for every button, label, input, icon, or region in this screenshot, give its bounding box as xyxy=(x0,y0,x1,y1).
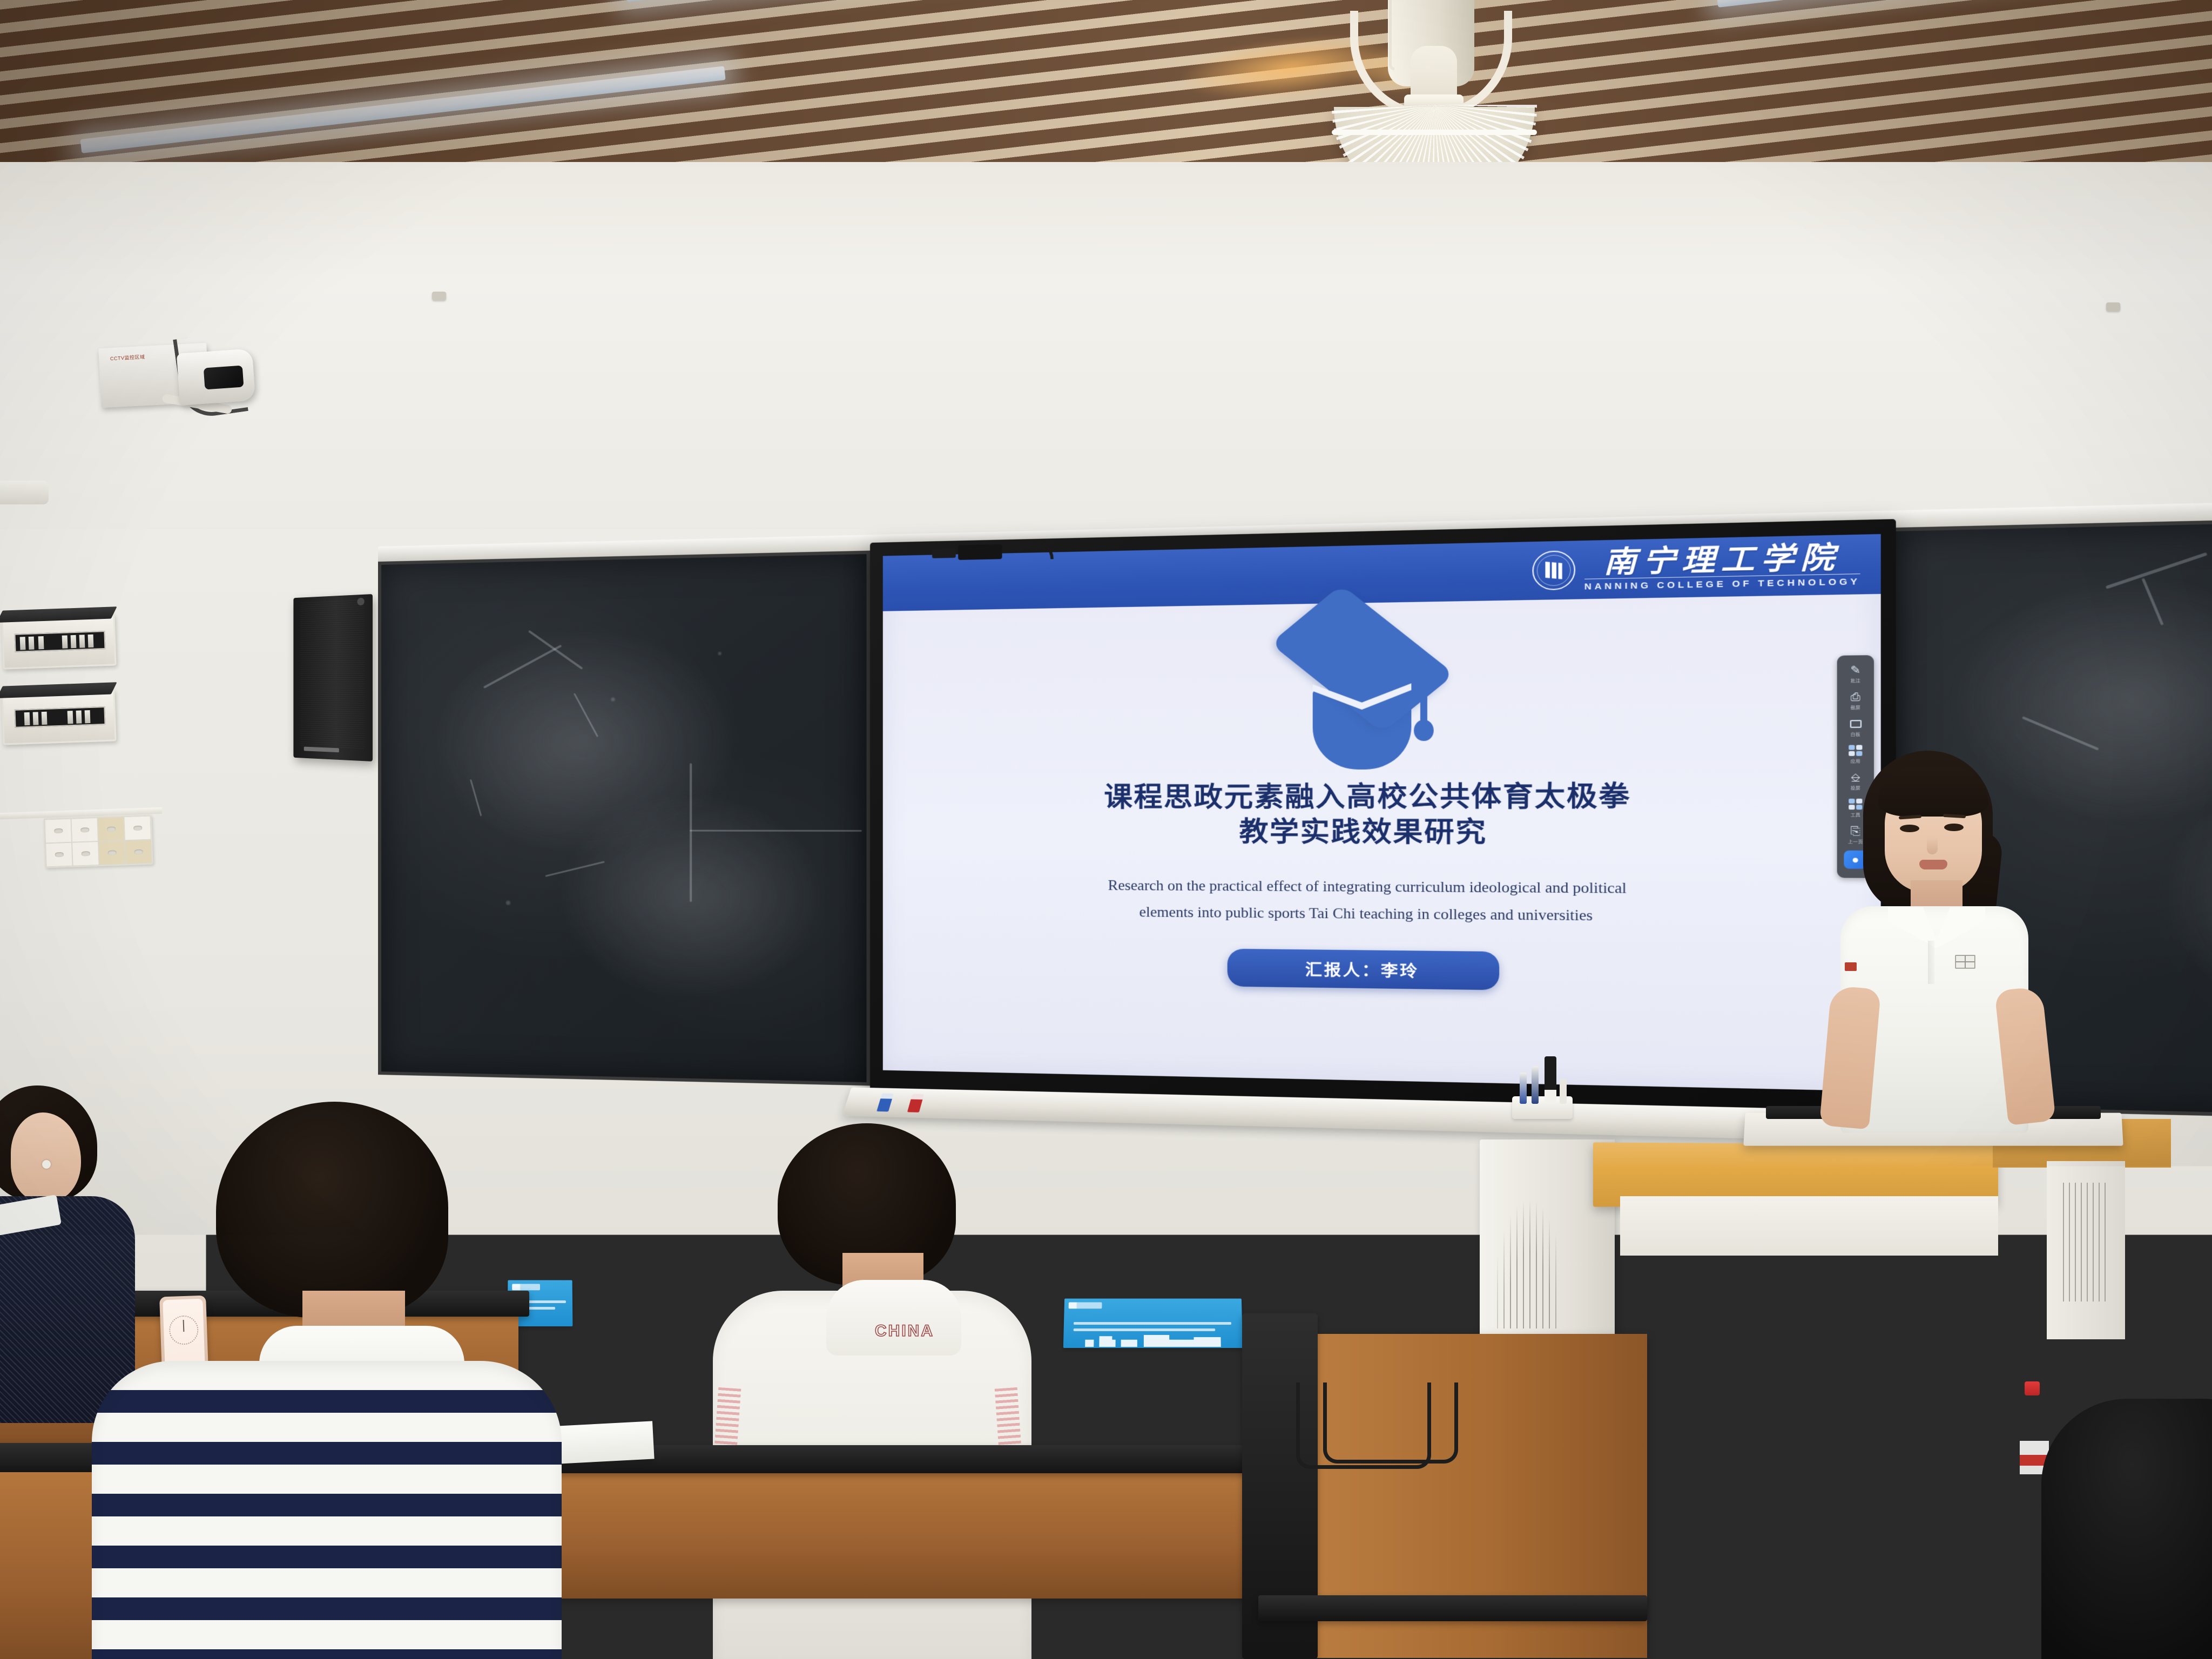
wall-vent xyxy=(0,481,49,504)
pen[interactable] xyxy=(1520,1073,1527,1104)
speaker-grille xyxy=(300,600,365,750)
power-socket[interactable] xyxy=(45,819,72,844)
fan-power-cable xyxy=(1389,0,1394,70)
jacket-brand-text: CHINA xyxy=(875,1322,934,1340)
audience-man-striped-hair xyxy=(216,1102,448,1318)
tent-card-center xyxy=(1063,1299,1243,1348)
presenter-name-pill: 汇报人：李玲 xyxy=(1228,949,1499,990)
slide-subtitle-line2: elements into public sports Tai Chi teac… xyxy=(936,898,1819,932)
speaker-badge xyxy=(304,747,339,753)
camera-lens-icon xyxy=(204,366,244,390)
desk-row-frontmost xyxy=(551,1593,1123,1659)
sprinkler-head xyxy=(2106,302,2120,311)
jacket-collar xyxy=(826,1280,961,1355)
toolbar-item-screenshot[interactable]: ⎙ 截屏 xyxy=(1837,688,1874,712)
pen-annotate-icon: ✎ xyxy=(1846,663,1864,677)
red-marker[interactable] xyxy=(907,1094,924,1112)
university-logo: 南宁理工学院 NANNING COLLEGE OF TECHNOLOGY xyxy=(1532,542,1860,592)
toolbar-label: 白板 xyxy=(1851,732,1860,738)
university-name-cn: 南宁理工学院 xyxy=(1603,542,1840,577)
podium-name-plate: 廣州體育學院 GUANGZHOU SPORT UNIVERSITY xyxy=(1653,1334,2025,1658)
clip-on-webcam xyxy=(958,544,1002,560)
power-socket[interactable] xyxy=(45,842,73,867)
desk-rail-lower-right xyxy=(1258,1595,1647,1621)
breaker-row xyxy=(14,631,105,652)
university-seal-icon xyxy=(1532,550,1575,590)
sprinkler-head xyxy=(432,292,446,300)
audience-person-right-black xyxy=(2041,1399,2212,1659)
pen[interactable] xyxy=(1532,1066,1539,1104)
slide-title-line2: 教学实践效果研究 xyxy=(883,814,1881,851)
sleeve-tag xyxy=(1845,962,1857,971)
blue-marker[interactable] xyxy=(876,1093,894,1111)
wall-mounted-speaker xyxy=(293,594,373,761)
presenter-at-podium xyxy=(1793,751,2074,1129)
upper-wall xyxy=(0,162,2212,551)
seal-book-mark xyxy=(1545,561,1562,579)
marker-pen-holder[interactable] xyxy=(1512,1096,1573,1119)
desk-rail-frontmost xyxy=(551,1561,1123,1595)
screenshot-icon: ⎙ xyxy=(1846,690,1864,704)
presenter-placket xyxy=(1928,941,1934,984)
emblem-athlete-figure xyxy=(1784,1271,1808,1307)
earring xyxy=(42,1160,51,1169)
smart-display[interactable]: 南宁理工学院 NANNING COLLEGE OF TECHNOLOGY 课程思… xyxy=(870,519,1896,1118)
fan-guard-ring xyxy=(1332,130,1537,135)
power-socket[interactable] xyxy=(98,840,126,865)
power-socket[interactable] xyxy=(71,818,98,842)
lectern-body xyxy=(1620,1196,1998,1256)
presenter-fringe xyxy=(1878,767,1988,817)
slide-subtitle: Research on the practical effect of inte… xyxy=(883,872,1881,933)
cabinet-vents xyxy=(2063,1183,2109,1301)
power-socket[interactable] xyxy=(125,840,152,865)
power-socket[interactable] xyxy=(72,841,99,866)
display-screen[interactable]: 南宁理工学院 NANNING COLLEGE OF TECHNOLOGY 课程思… xyxy=(883,534,1881,1091)
wood-slat-ceiling xyxy=(0,0,2212,178)
toolbar-item-whiteboard[interactable]: 白板 xyxy=(1837,715,1874,739)
chalkboard-left xyxy=(378,551,870,1086)
power-socket[interactable] xyxy=(124,816,151,841)
breaker-row xyxy=(14,706,105,728)
ceiling-shading xyxy=(0,0,2212,178)
presenter-mouth xyxy=(1919,860,1947,869)
emblem-ribbon xyxy=(1763,1304,1828,1317)
podium-plate-cn: 廣州體育學院 xyxy=(1653,1512,2025,1564)
podium-plate-en: GUANGZHOU SPORT UNIVERSITY xyxy=(1653,1563,2025,1583)
slide-title-line1: 课程思政元素融入高校公共体育太极拳 xyxy=(883,777,1881,814)
cctv-sign-text: CCTV监控区域 xyxy=(109,354,149,398)
av-cabinet-right xyxy=(2047,1161,2125,1339)
presenter-eye xyxy=(1900,825,1919,832)
cctv-camera xyxy=(177,348,255,406)
electrical-panel-upper[interactable] xyxy=(1,613,116,669)
electrical-panel-lower[interactable] xyxy=(1,689,116,745)
presenter-nose xyxy=(1927,837,1938,854)
presenter-eye xyxy=(1944,824,1964,831)
whiteboard-icon xyxy=(1846,716,1864,731)
classroom-scene: CCTV监控区域 xyxy=(0,0,2212,1659)
power-socket[interactable] xyxy=(97,817,125,841)
toolbar-label: 批注 xyxy=(1851,678,1860,684)
power-socket-rail[interactable] xyxy=(43,815,153,868)
shirt-logo-badge xyxy=(1955,955,1975,969)
plate-screw xyxy=(1833,1354,1844,1365)
marker-black[interactable] xyxy=(1545,1056,1556,1104)
pen[interactable] xyxy=(1560,1079,1567,1104)
bag-hook-rack xyxy=(1323,1382,1458,1464)
slide-title: 课程思政元素融入高校公共体育太极拳 教学实践效果研究 xyxy=(883,777,1881,851)
toolbar-label: 截屏 xyxy=(1851,705,1860,711)
clock-dial-icon xyxy=(168,1315,199,1345)
toolbar-item-annotate[interactable]: ✎ 批注 xyxy=(1837,661,1874,685)
cabinet-vents xyxy=(1497,1199,1562,1328)
desk-screw xyxy=(1361,1324,1368,1332)
audience-man-striped xyxy=(92,1361,562,1659)
